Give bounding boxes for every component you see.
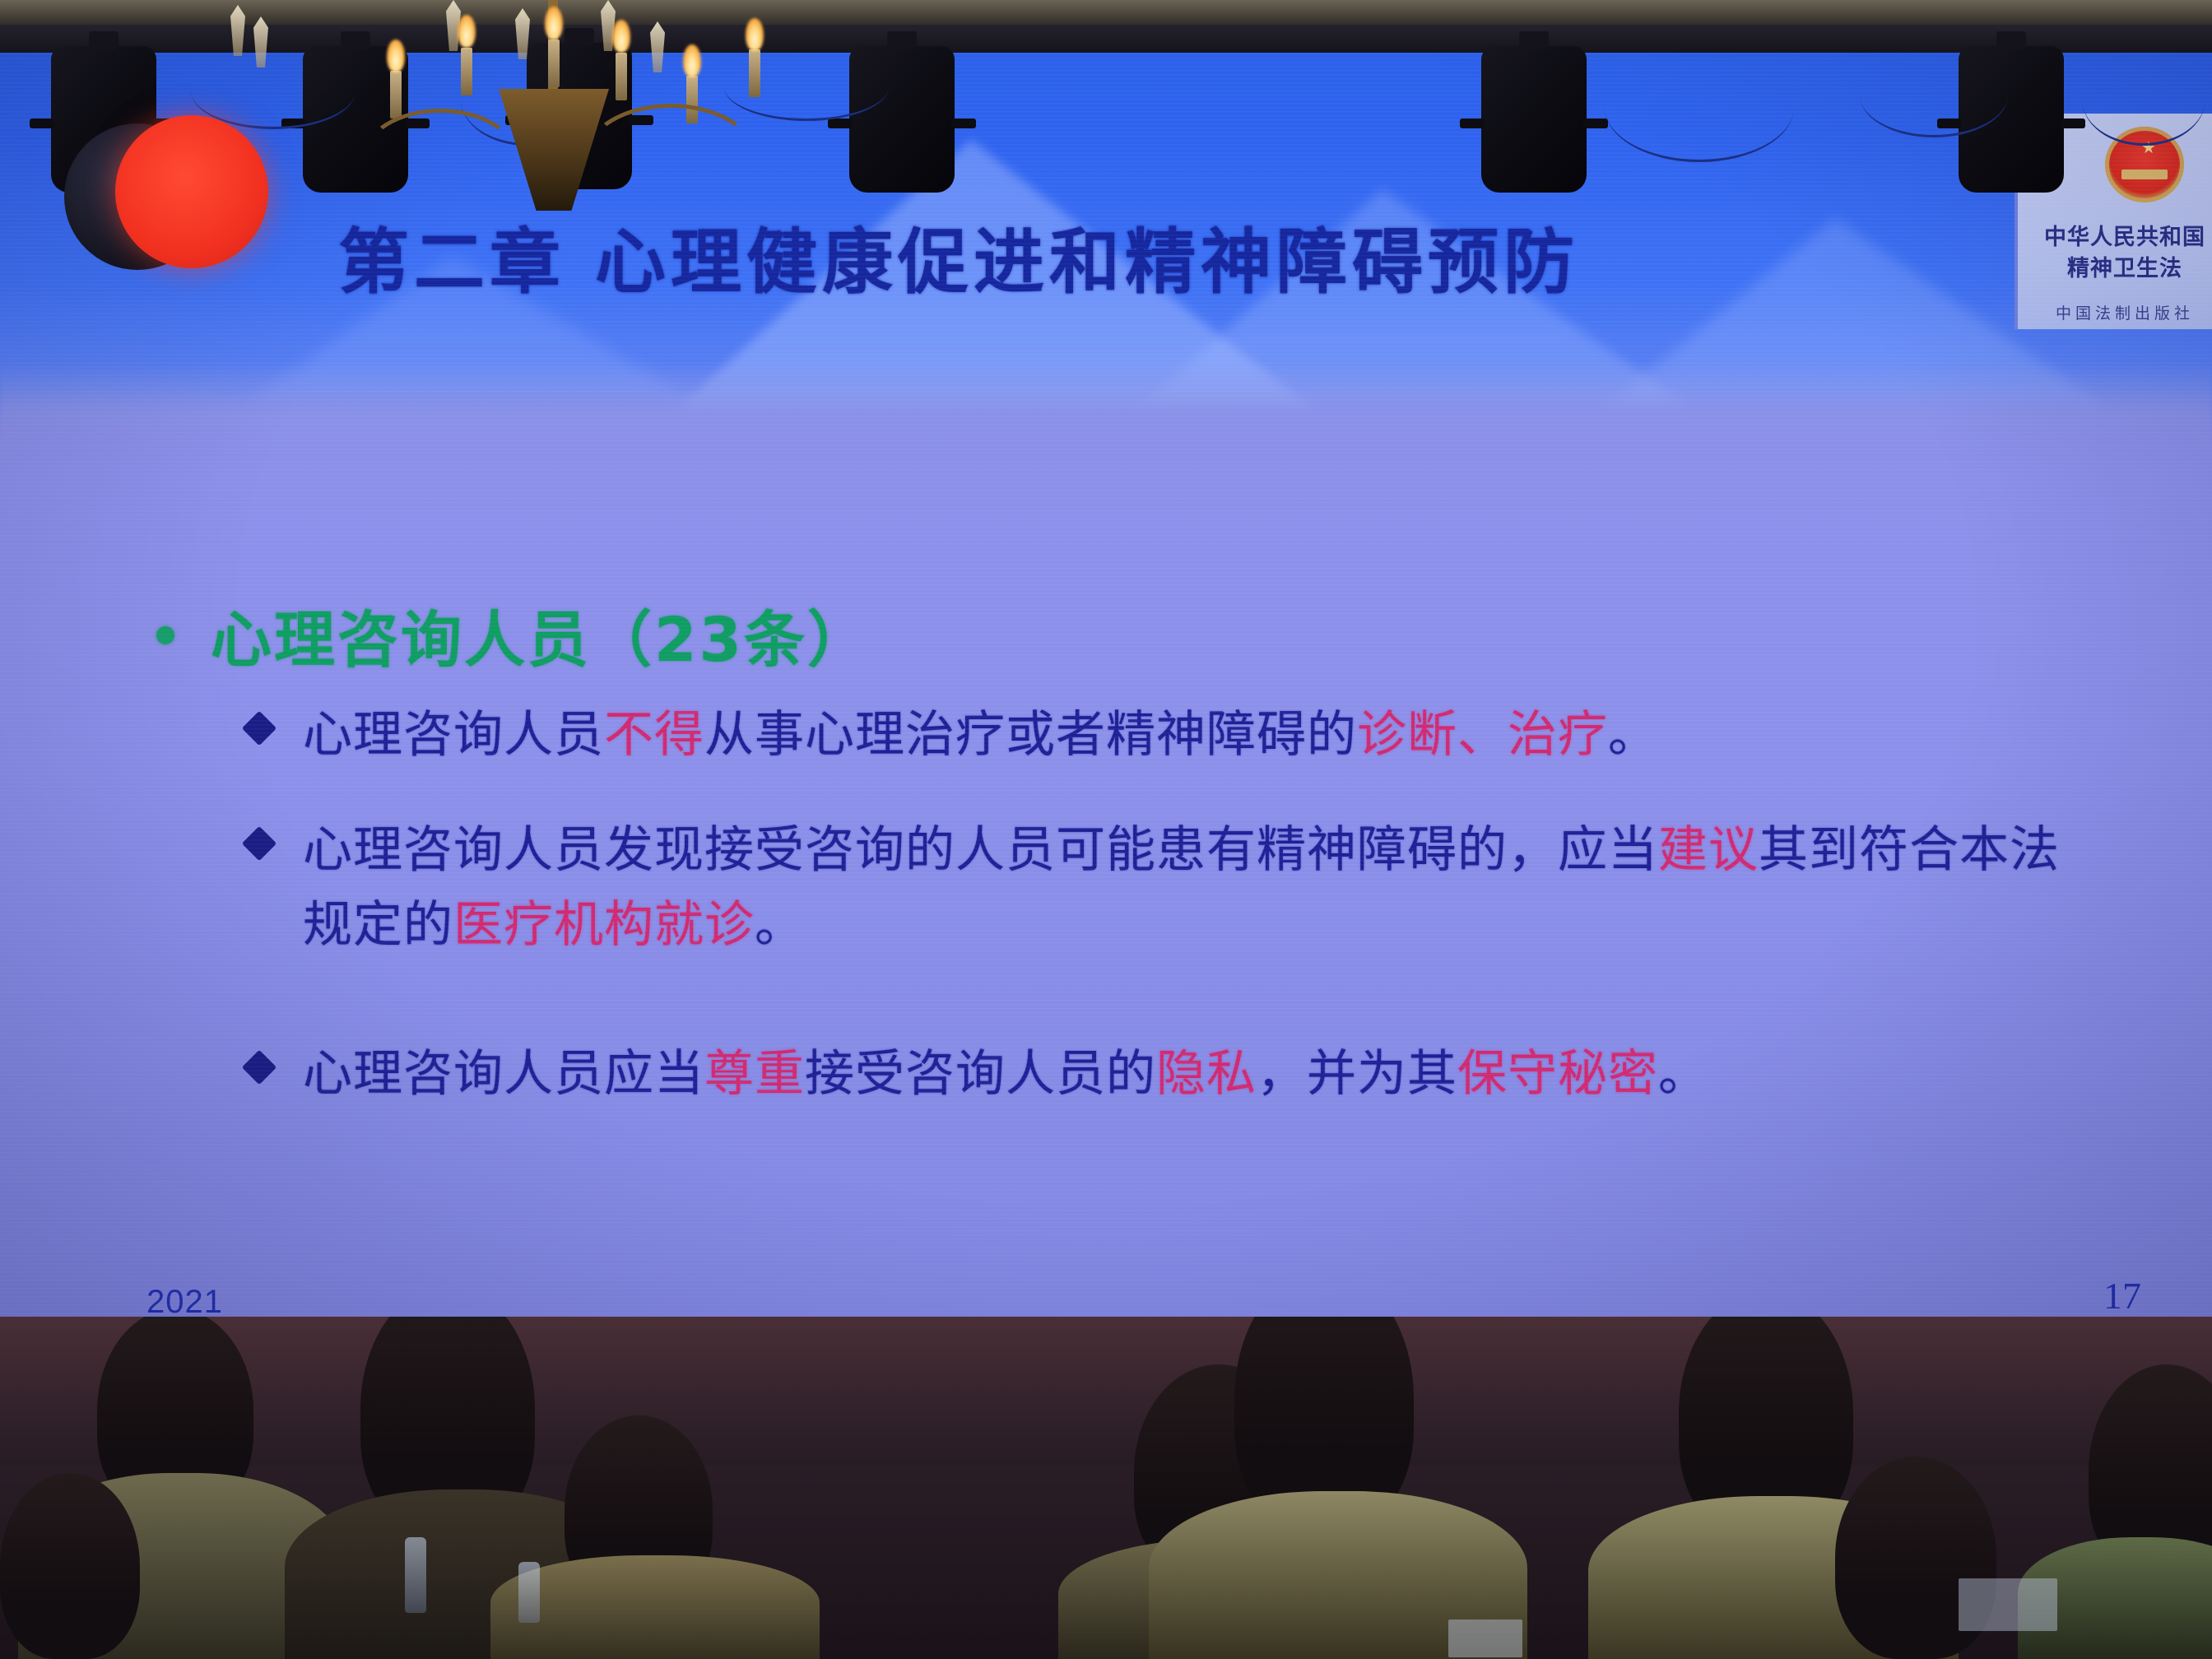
bullet-text-2: 心理咨询人员发现接受咨询的人员可能患有精神障碍的，应当建议其到符合本法规定的医疗… [303, 813, 2074, 963]
book-publisher: 中国法制出版社 [2018, 301, 2212, 323]
light-housing [1481, 46, 1587, 193]
slide-title: 第二章 心理健康促进和精神障碍预防 [0, 204, 1917, 307]
highlighted-phrase: 尊重 [704, 1045, 805, 1103]
bullet-item-2: 心理咨询人员发现接受咨询的人员可能患有精神障碍的，应当建议其到符合本法规定的医疗… [247, 813, 2074, 963]
stage-light-5 [1481, 46, 1587, 193]
highlighted-phrase: 医疗机构就诊 [453, 896, 755, 954]
chandelier-candle-4 [616, 53, 627, 100]
bullet-item-1: 心理咨询人员不得从事心理治疗或者精神障碍的诊断、治疗。 [247, 698, 1658, 773]
plain-phrase: 心理咨询人员发现接受咨询的人员可能患有精神障碍的，应当 [303, 821, 1658, 879]
light-yoke-left [828, 118, 853, 128]
projection-screen: 第二章 心理健康促进和精神障碍预防 ★ 中华人民共和国 精神卫生法 中国法制出版… [0, 0, 2212, 1366]
light-cable-6 [2082, 53, 2205, 146]
seated-audience [0, 1317, 2212, 1659]
light-yoke-right [1583, 118, 1608, 128]
highlighted-phrase: 不得 [604, 706, 704, 764]
chandelier-candle-2 [461, 48, 472, 95]
plain-phrase: 从事心理治疗或者精神障碍的 [704, 706, 1357, 764]
light-yoke-left [1460, 118, 1485, 128]
plain-phrase: 心理咨询人员应当 [303, 1045, 704, 1103]
light-yoke-right [2061, 118, 2085, 128]
crystal-chandelier [354, 0, 782, 272]
red-spotlight [115, 115, 268, 268]
candle-flame-3 [545, 7, 563, 39]
light-mount [887, 31, 917, 49]
plain-phrase: 。 [755, 896, 805, 954]
candle-flame-5 [683, 44, 701, 77]
light-cable-4 [1605, 53, 1794, 162]
diamond-bullet-icon [242, 1050, 276, 1085]
band-fade [0, 390, 2212, 461]
bullet-text-1: 心理咨询人员不得从事心理治疗或者精神障碍的诊断、治疗。 [303, 698, 1658, 773]
light-yoke-left [30, 118, 54, 128]
paper-document [1448, 1619, 1522, 1657]
chandelier-candle-6 [749, 49, 760, 97]
light-mount [89, 31, 118, 49]
slide-body: 心理咨询人员（23条） 心理咨询人员不得从事心理治疗或者精神障碍的诊断、治疗。 … [0, 461, 2212, 1366]
slide-page-number: 17 [2103, 1274, 2141, 1317]
bullet-item-3: 心理咨询人员应当尊重接受咨询人员的隐私，并为其保守秘密。 [247, 1037, 1708, 1112]
plain-phrase: 心理咨询人员 [303, 706, 604, 764]
water-bottle [405, 1537, 426, 1613]
paper-document [1959, 1578, 2057, 1631]
book-title-line-1: 中华人民共和国 [2018, 219, 2212, 251]
candle-flame-6 [746, 18, 764, 51]
candle-flame-2 [458, 15, 476, 48]
hall-back-wall [0, 1317, 2212, 1481]
diamond-bullet-icon [242, 826, 276, 861]
slide-footer-date: 2021 [146, 1284, 223, 1321]
light-yoke-right [951, 118, 976, 128]
bullet-text-3: 心理咨询人员应当尊重接受咨询人员的隐私，并为其保守秘密。 [303, 1037, 1708, 1112]
plain-phrase: 接受咨询人员的 [805, 1045, 1156, 1103]
highlighted-phrase: 诊断、治疗 [1357, 706, 1608, 764]
slide-heading: 心理咨询人员（23条） [156, 591, 871, 679]
chandelier-crystal-4 [515, 8, 530, 59]
chandelier-arm-left [362, 109, 518, 207]
audience-shoulders [490, 1555, 820, 1659]
highlighted-phrase: 建议 [1658, 821, 1759, 879]
plain-phrase: 。 [1658, 1045, 1708, 1103]
emblem-gate-bar [2121, 170, 2168, 179]
diamond-bullet-icon [242, 711, 276, 746]
round-bullet-icon [156, 626, 174, 644]
chandelier-candle-1 [390, 71, 402, 118]
conference-hall-photo: 第二章 心理健康促进和精神障碍预防 ★ 中华人民共和国 精神卫生法 中国法制出版… [0, 0, 2212, 1659]
highlighted-phrase: 保守秘密 [1457, 1045, 1658, 1103]
light-cable-5 [1860, 53, 2008, 137]
light-mount [1996, 31, 2026, 49]
candle-flame-4 [612, 20, 630, 53]
water-bottle [518, 1562, 540, 1623]
plain-phrase: 。 [1608, 706, 1658, 764]
chandelier-arm-right [584, 104, 757, 211]
plain-phrase: ，并为其 [1257, 1045, 1457, 1103]
chandelier-crystal-6 [650, 21, 665, 72]
candle-flame-1 [387, 39, 405, 72]
highlighted-phrase: 隐私 [1156, 1045, 1257, 1103]
chandelier-candle-3 [548, 39, 560, 87]
book-title-line-2: 精神卫生法 [2018, 250, 2212, 282]
audience-head [0, 1473, 140, 1659]
light-cable-1 [191, 53, 355, 129]
slide-heading-text: 心理咨询人员（23条） [211, 591, 871, 679]
light-mount [1519, 31, 1549, 49]
